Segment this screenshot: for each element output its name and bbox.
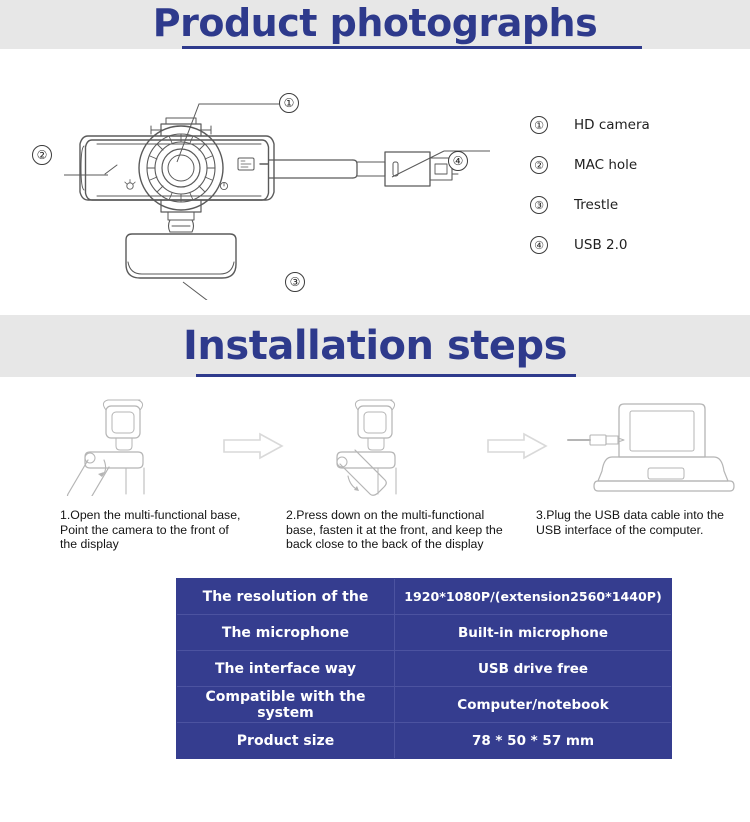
spec-key-resolution: The resolution of the [177,579,395,614]
legend-item-hd-camera: ① HD camera [530,112,740,145]
spec-value-resolution: 1920*1080P/(extension2560*1440P) [395,579,671,614]
callout-2: ② [32,145,52,165]
legend-label-2: MAC hole [574,156,637,174]
spec-row-resolution: The resolution of the 1920*1080P/(extens… [177,579,671,614]
legend-label-3: Trestle [574,196,618,214]
title-underline [182,46,642,49]
legend-item-mac-hole: ② MAC hole [530,152,740,185]
callout-3: ③ [285,272,305,292]
legend-number-4: ④ [530,236,548,254]
install-step-2-caption: 2.Press down on the multi-functional bas… [286,508,536,552]
legend-number-2: ② [530,156,548,174]
laptop-usb-icon [562,388,742,496]
spec-row-interface: The interface way USB drive free [177,650,671,686]
spec-key-size: Product size [177,723,395,758]
section-title-installation: Installation steps [0,317,750,375]
legend-label-4: USB 2.0 [574,236,627,254]
spec-row-compatibility: Compatible with the system Computer/note… [177,686,671,722]
legend-item-trestle: ③ Trestle [530,192,740,225]
page-title: Product photographs [0,0,750,47]
spec-key-compatibility: Compatible with the system [177,687,395,722]
spec-table: The resolution of the 1920*1080P/(extens… [176,578,672,759]
legend-number-1: ① [530,116,548,134]
legend-label-1: HD camera [574,116,650,134]
spec-value-size: 78 * 50 * 57 mm [395,723,671,758]
spec-key-microphone: The microphone [177,615,395,650]
spec-key-interface: The interface way [177,651,395,686]
section-installation-steps: Installation steps [0,310,750,822]
webcam-base-closed-icon [312,388,462,496]
legend-number-3: ③ [530,196,548,214]
section-product-photographs: Product photographs [0,0,750,310]
webcam-base-open-icon [60,388,210,496]
legend-list: ① HD camera ② MAC hole ③ Trestle ④ USB 2… [530,112,740,272]
legend-item-usb: ④ USB 2.0 [530,232,740,265]
install-step-1-caption: 1.Open the multi-functional base, Point … [60,508,305,552]
title-underline-2 [196,374,576,377]
webcam-diagram [20,86,490,300]
spec-value-compatibility: Computer/notebook [395,687,671,722]
callout-4: ④ [448,151,468,171]
spec-row-microphone: The microphone Built-in microphone [177,614,671,650]
spec-value-microphone: Built-in microphone [395,615,671,650]
callout-1: ① [279,93,299,113]
spec-value-interface: USB drive free [395,651,671,686]
install-step-3-caption: 3.Plug the USB data cable into the USB i… [536,508,750,537]
spec-row-size: Product size 78 * 50 * 57 mm [177,722,671,758]
flow-arrow-icon-1 [222,432,284,460]
flow-arrow-icon-2 [486,432,548,460]
